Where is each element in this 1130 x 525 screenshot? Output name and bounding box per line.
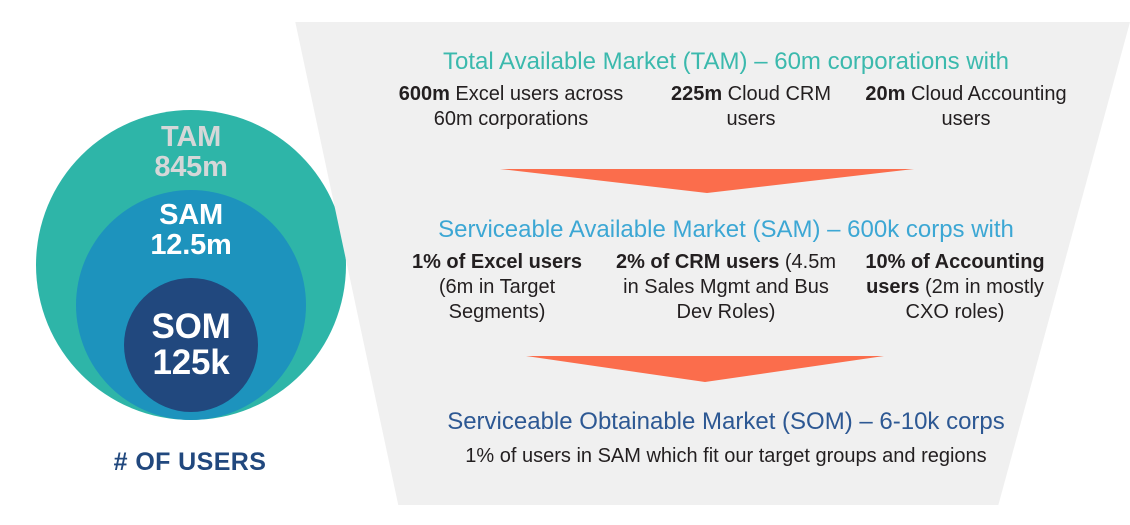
som-circle: SOM 125k (124, 278, 258, 412)
tam-section: Total Available Market (TAM) – 60m corpo… (376, 48, 1076, 132)
tam-circle-value: 845m (154, 152, 227, 182)
funnel-background (286, 0, 1130, 525)
sam-column-1: 1% of Excel users (6m in Target Segments… (386, 250, 608, 325)
sam-column-1-rest: (6m in Target Segments) (439, 276, 555, 323)
tam-column-2-emphasis: 225m (671, 83, 722, 105)
tam-column-3-rest: Cloud Accounting users (905, 83, 1066, 130)
sam-section: Serviceable Available Market (SAM) – 600… (386, 216, 1066, 325)
som-circle-value: 125k (152, 345, 229, 381)
sam-circle-label: SAM (159, 200, 223, 230)
sam-columns: 1% of Excel users (6m in Target Segments… (386, 250, 1066, 325)
sam-column-3-emphasis: 10% of Accounting users (865, 251, 1044, 298)
down-arrow-icon-sam-to-som (526, 356, 884, 382)
tam-column-1-emphasis: 600m (399, 83, 450, 105)
users-caption: # OF USERS (0, 448, 380, 477)
tam-column-2-rest: Cloud CRM users (722, 83, 831, 130)
sam-column-3: 10% of Accounting users (2m in mostly CX… (844, 250, 1066, 325)
sam-column-1-emphasis: 1% of Excel users (412, 251, 582, 273)
tam-column-3: 20m Cloud Accounting users (856, 82, 1076, 132)
tam-column-2: 225m Cloud CRM users (646, 82, 856, 132)
concentric-circles-group: TAM 845m SAM 12.5m SOM 125k # OF USERS (0, 0, 380, 525)
down-arrow-icon-tam-to-sam (500, 169, 914, 193)
tam-column-1: 600m Excel users across 60m corporations (376, 82, 646, 132)
tam-sam-som-diagram: TAM 845m SAM 12.5m SOM 125k # OF USERS T… (0, 0, 1130, 525)
tam-column-3-emphasis: 20m (865, 83, 905, 105)
som-heading: Serviceable Obtainable Market (SOM) – 6-… (396, 408, 1056, 436)
sam-column-2-emphasis: 2% of CRM users (616, 251, 779, 273)
tam-circle-label: TAM (161, 122, 221, 152)
som-circle-label: SOM (151, 309, 230, 345)
sam-heading: Serviceable Available Market (SAM) – 600… (386, 216, 1066, 244)
som-body-text: 1% of users in SAM which fit our target … (396, 444, 1056, 469)
sam-column-3-rest: (2m in mostly CXO roles) (906, 276, 1044, 323)
funnel-shape: Total Available Market (TAM) – 60m corpo… (286, 0, 1130, 525)
sam-column-2: 2% of CRM users (4.5m in Sales Mgmt and … (608, 250, 844, 325)
tam-columns: 600m Excel users across 60m corporations… (376, 82, 1076, 132)
som-section: Serviceable Obtainable Market (SOM) – 6-… (396, 408, 1056, 469)
sam-circle-value: 12.5m (150, 230, 231, 260)
tam-column-1-rest: Excel users across 60m corporations (434, 83, 624, 130)
tam-heading: Total Available Market (TAM) – 60m corpo… (376, 48, 1076, 76)
sam-column-2-rest: (4.5m in Sales Mgmt and Bus Dev Roles) (623, 251, 836, 323)
